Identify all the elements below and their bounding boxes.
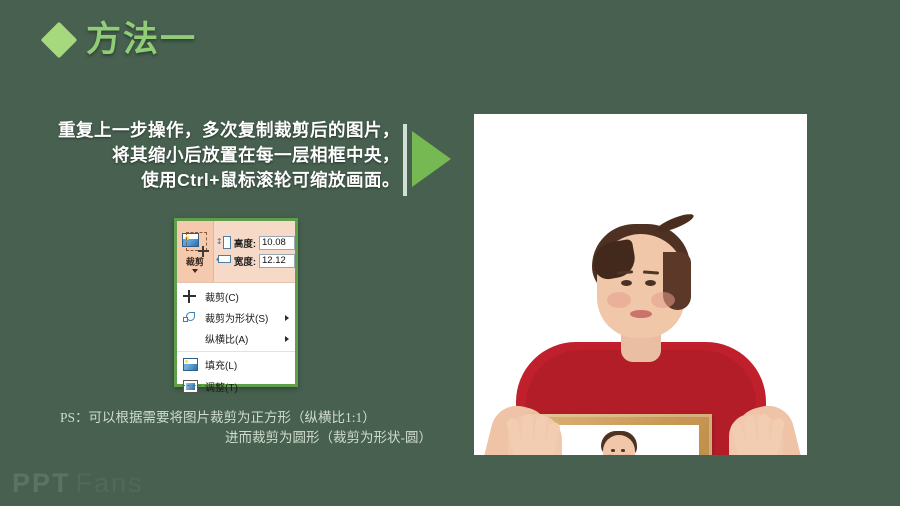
crop-menu-list: 裁剪(C) 裁剪为形状(S) 纵横比(A) 填充(L) 调整(T) <box>177 283 295 397</box>
photo-content <box>474 114 807 455</box>
watermark: PPT Fans <box>12 470 144 497</box>
subject-eye-left <box>621 280 632 286</box>
crop-panel-header: 裁剪 ↕ 高度: 10.08 ↔ 宽度: 12.12 <box>177 221 295 283</box>
crop-button-label: 裁剪 <box>186 257 204 267</box>
crop-button[interactable]: 裁剪 <box>177 221 214 282</box>
menu-item-crop-to-shape[interactable]: 裁剪为形状(S) <box>177 307 295 328</box>
menu-item-fill[interactable]: 填充(L) <box>177 351 295 376</box>
example-photo <box>474 114 807 455</box>
height-arrows-icon: ↕ <box>216 235 231 250</box>
width-arrows-icon: ↔ <box>216 253 231 268</box>
fit-icon <box>183 380 198 393</box>
subject-hand-left <box>508 414 562 455</box>
slide-canvas: 方法一 重复上一步操作，多次复制裁剪后的图片， 将其缩小后放置在每一层相框中央，… <box>0 0 900 506</box>
instruction-line-1: 重复上一步操作，多次复制裁剪后的图片， <box>40 118 400 143</box>
menu-item-label: 调整(T) <box>205 379 238 394</box>
chevron-right-icon <box>285 336 289 342</box>
width-field-row[interactable]: ↔ 宽度: 12.12 <box>216 253 295 268</box>
chevron-right-icon <box>285 315 289 321</box>
instruction-text-block: 重复上一步操作，多次复制裁剪后的图片， 将其缩小后放置在每一层相框中央， 使用C… <box>40 118 400 193</box>
caret-down-icon[interactable] <box>192 269 198 273</box>
ps-note: PS：可以根据需要将图片裁剪为正方形（纵横比1:1） 进而裁剪为圆形（裁剪为形状… <box>56 408 432 448</box>
menu-item-label: 纵横比(A) <box>205 331 248 346</box>
diamond-icon <box>41 21 78 58</box>
menu-item-fit[interactable]: 调整(T) <box>177 376 295 397</box>
nested-subject-level-2 <box>539 425 699 455</box>
subject-blush-left <box>607 292 631 308</box>
height-field-row[interactable]: ↕ 高度: 10.08 <box>216 235 295 250</box>
ps-note-line-2: 进而裁剪为圆形（裁剪为形状-圆） <box>56 428 432 448</box>
size-fields-group: ↕ 高度: 10.08 ↔ 宽度: 12.12 <box>214 221 295 282</box>
aspect-ratio-icon <box>183 332 198 345</box>
subject-eye-right <box>645 280 656 286</box>
crop-to-shape-icon <box>183 311 198 324</box>
crop-picture-icon <box>182 232 208 256</box>
watermark-light: Fans <box>76 470 144 497</box>
subject-hand-right <box>729 414 783 455</box>
frame-1-photo <box>539 425 699 455</box>
crop-icon <box>183 290 198 303</box>
height-input[interactable]: 10.08 <box>259 236 295 250</box>
crop-dropdown-panel[interactable]: 裁剪 ↕ 高度: 10.08 ↔ 宽度: 12.12 <box>174 218 298 387</box>
height-field-label: 高度: <box>234 236 256 250</box>
watermark-bold: PPT <box>12 470 71 497</box>
page-title: 方法一 <box>46 22 197 57</box>
menu-item-aspect-ratio[interactable]: 纵横比(A) <box>177 328 295 349</box>
subject-lips <box>630 310 652 318</box>
menu-item-label: 填充(L) <box>205 357 237 372</box>
menu-item-label: 裁剪(C) <box>205 289 239 304</box>
subject-blush-right <box>651 292 675 308</box>
menu-item-crop[interactable]: 裁剪(C) <box>177 286 295 307</box>
subject-hair-tuft <box>654 211 695 235</box>
menu-item-label: 裁剪为形状(S) <box>205 310 268 325</box>
ps-note-line-1: PS：可以根据需要将图片裁剪为正方形（纵横比1:1） <box>56 408 432 428</box>
play-triangle-icon <box>412 131 451 187</box>
vertical-divider-bar <box>403 124 407 196</box>
width-field-label: 宽度: <box>234 254 256 268</box>
instruction-line-3: 使用Ctrl+鼠标滚轮可缩放画面。 <box>40 168 400 193</box>
fill-icon <box>183 358 198 371</box>
page-title-text: 方法一 <box>86 22 197 57</box>
width-input[interactable]: 12.12 <box>259 254 295 268</box>
instruction-line-2: 将其缩小后放置在每一层相框中央， <box>40 143 400 168</box>
